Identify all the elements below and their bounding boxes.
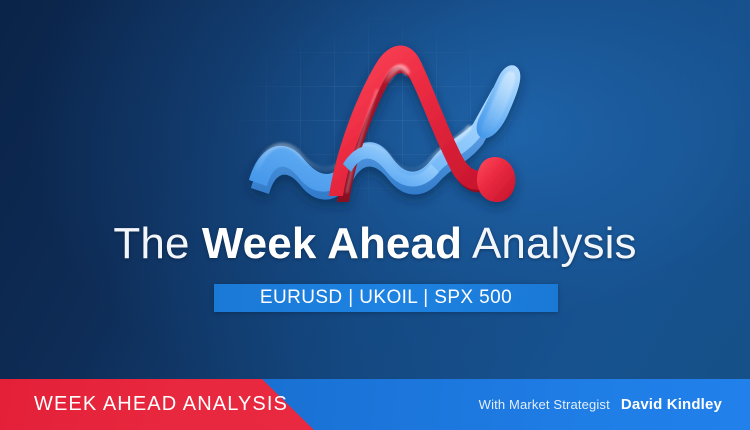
market-wave-arrow-logo — [243, 40, 523, 210]
page-title: The Week Ahead Analysis — [0, 218, 750, 270]
red-ribbon-tip — [477, 157, 515, 202]
week-ahead-analysis-banner: The Week Ahead Analysis EURUSD | UKOIL |… — [0, 0, 750, 430]
red-banner-label: WEEK AHEAD ANALYSIS — [34, 379, 288, 430]
instruments-label: EURUSD | UKOIL | SPX 500 — [260, 287, 512, 309]
presenter-role-label: With Market Strategist — [479, 397, 610, 412]
bottom-bar: WEEK AHEAD ANALYSIS With Market Strategi… — [0, 379, 750, 430]
presenter-credit: With Market Strategist David Kindley — [479, 379, 722, 430]
title-part-analysis: Analysis — [462, 219, 637, 268]
title-part-week-ahead: Week Ahead — [202, 219, 462, 268]
instruments-badge: EURUSD | UKOIL | SPX 500 — [214, 284, 558, 312]
presenter-name: David Kindley — [621, 396, 722, 413]
title-part-the: The — [113, 219, 201, 268]
